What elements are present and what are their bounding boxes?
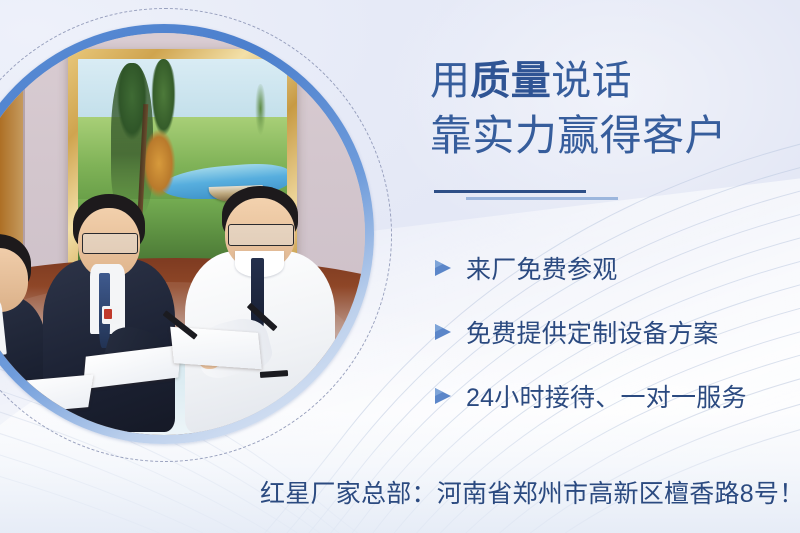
- headline-line1-post: 说话: [551, 59, 632, 103]
- headline-line1-pre: 用: [430, 59, 470, 103]
- headline-line-2: 靠实力赢得客户: [430, 110, 790, 162]
- person-right-white-shirt: [188, 186, 341, 427]
- list-item: 来厂免费参观: [430, 236, 790, 300]
- bullet-list: 来厂免费参观 免费提供定制设备方案 24小时: [430, 236, 790, 428]
- content-column: 用质量说话 靠实力赢得客户 来厂免费参观: [430, 0, 790, 533]
- banner-root: 用质量说话 靠实力赢得客户 来厂免费参观: [0, 0, 800, 533]
- list-item-label: 来厂免费参观: [466, 250, 618, 286]
- play-triangle-icon: [430, 319, 456, 345]
- divider-line-dark: [434, 190, 586, 193]
- photo-circle: [0, 24, 374, 444]
- photo-image: [0, 33, 365, 435]
- list-item-label: 24小时接待、一对一服务: [466, 378, 747, 414]
- headline-block: 用质量说话 靠实力赢得客户: [430, 56, 790, 162]
- play-triangle-icon: [430, 255, 456, 281]
- list-item: 24小时接待、一对一服务: [430, 364, 790, 428]
- headline-line-1: 用质量说话: [430, 56, 790, 106]
- document-right: [170, 327, 262, 370]
- list-item: 免费提供定制设备方案: [430, 300, 790, 364]
- divider-line-light: [466, 197, 618, 200]
- painting-tree-far: [253, 84, 268, 178]
- list-item-label: 免费提供定制设备方案: [466, 314, 719, 350]
- headline-divider: [434, 190, 634, 204]
- play-triangle-icon: [430, 383, 456, 409]
- headline-line1-emphasis: 质量: [470, 59, 551, 103]
- footer-address: 红星厂家总部：河南省郑州市高新区檀香路8号！: [260, 474, 800, 510]
